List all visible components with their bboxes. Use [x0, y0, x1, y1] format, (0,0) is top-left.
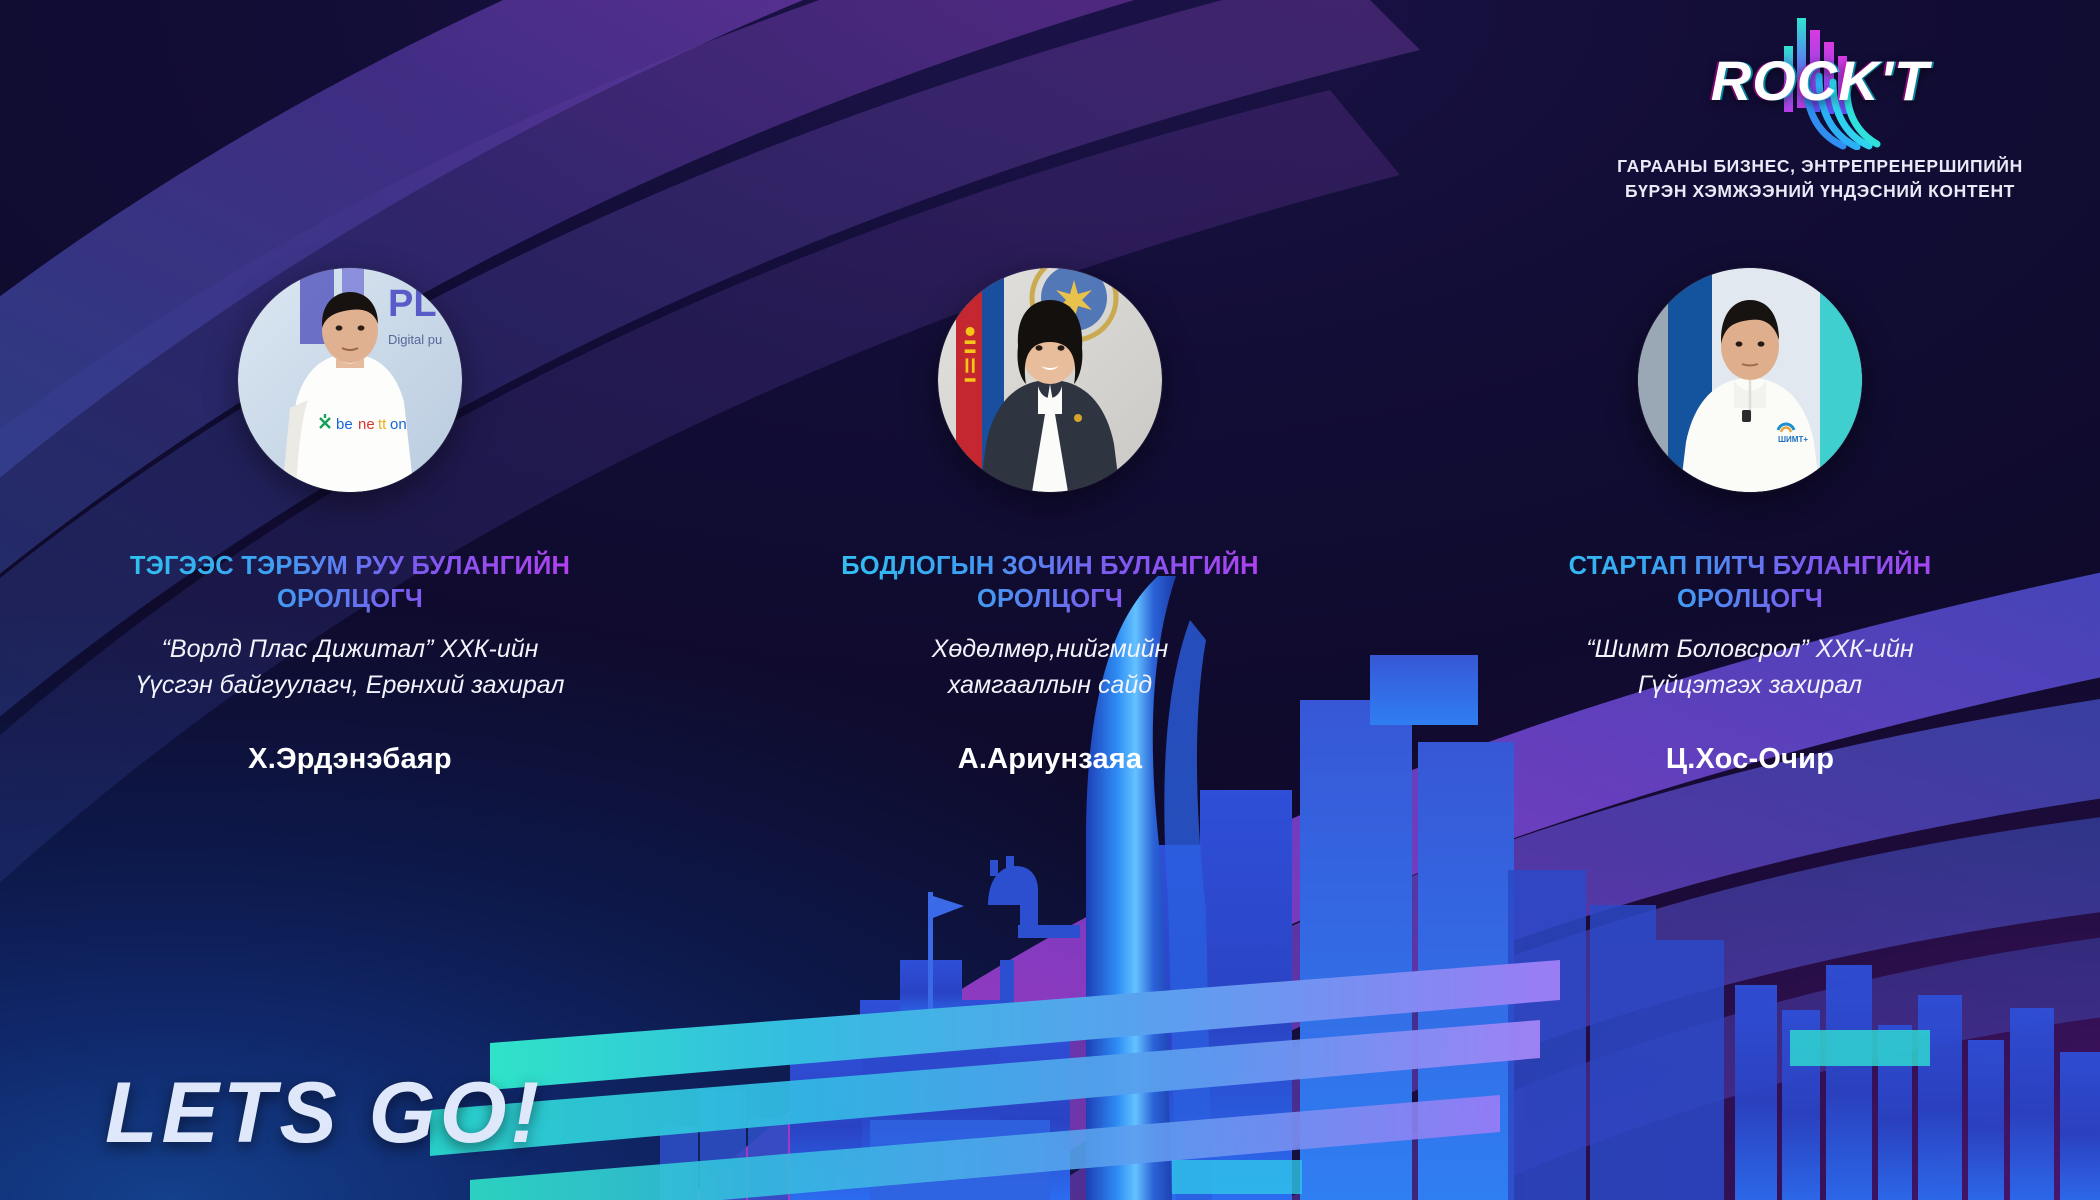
speaker-role-2: БОДЛОГЫН ЗОЧИН БУЛАНГИЙН ОРОЛЦОГЧ — [810, 550, 1290, 615]
svg-text:PL: PL — [388, 283, 437, 325]
org-line-1: “Шимт Боловсрол” ХХК-ийн — [1586, 635, 1913, 663]
speaker-card-3: ШИМТ+ СТАРТАП ПИТЧ БУЛАНГИЙН ОРОЛЦОГЧ “Ш… — [1400, 268, 2100, 776]
speaker-name-3: Ц.Хос-Очир — [1666, 743, 1834, 776]
org-line-2: Үүсгэн байгуулагч, Ерөнхий захирал — [135, 671, 564, 699]
role-line-1: БОДЛОГЫН ЗОЧИН БУЛАНГИЙН — [841, 552, 1259, 580]
svg-text:ШИМТ+: ШИМТ+ — [1778, 435, 1808, 444]
svg-text:ne: ne — [358, 416, 375, 433]
brand-logo-block: ROCK'T ГАРААНЫ БИЗНЕС, ЭНТРЕПРЕНЕРШИПИЙН… — [1605, 10, 2035, 205]
speaker-name-2: А.Ариунзаяа — [958, 743, 1143, 776]
org-line-1: “Ворлд Плас Дижитал” ХХК-ийн — [162, 635, 539, 663]
logo-wordmark: ROCK'T — [1605, 48, 2035, 113]
role-line-1: ТЭГЭЭС ТЭРБУМ РУУ БУЛАНГИЙН — [130, 552, 570, 580]
role-line-2: ОРОЛЦОГЧ — [977, 585, 1123, 613]
speaker-card-2: БОДЛОГЫН ЗОЧИН БУЛАНГИЙН ОРОЛЦОГЧ Хөдөлм… — [700, 268, 1400, 776]
svg-text:on: on — [390, 416, 407, 433]
logo-mark: ROCK'T — [1605, 10, 2035, 150]
svg-text:be: be — [336, 416, 353, 433]
speaker-org-1: “Ворлд Плас Дижитал” ХХК-ийн Үүсгэн байг… — [90, 632, 610, 703]
role-line-1: СТАРТАП ПИТЧ БУЛАНГИЙН — [1569, 552, 1932, 580]
tagline-line-1: ГАРААНЫ БИЗНЕС, ЭНТРЕПРЕНЕРШИПИЙН — [1605, 154, 2035, 179]
slide-canvas: ROCK'T ГАРААНЫ БИЗНЕС, ЭНТРЕПРЕНЕРШИПИЙН… — [0, 0, 2100, 1200]
tagline-line-2: БҮРЭН ХЭМЖЭЭНИЙ ҮНДЭСНИЙ КОНТЕНТ — [1605, 179, 2035, 204]
svg-text:Digital pu: Digital pu — [388, 332, 442, 347]
speaker-role-3: СТАРТАП ПИТЧ БУЛАНГИЙН ОРОЛЦОГЧ — [1510, 550, 1990, 615]
speaker-photo-erdenebayar: PL Digital pu be — [238, 268, 462, 492]
speaker-org-2: Хөдөлмөр,нийгмийн хамгааллын сайд — [790, 632, 1310, 703]
org-line-2: хамгааллын сайд — [948, 671, 1152, 699]
speaker-name-1: Х.Эрдэнэбаяр — [248, 743, 452, 776]
org-line-1: Хөдөлмөр,нийгмийн — [932, 635, 1169, 663]
svg-text:tt: tt — [378, 416, 387, 433]
speaker-row: PL Digital pu be — [0, 268, 2100, 776]
speaker-card-1: PL Digital pu be — [0, 268, 700, 776]
org-line-2: Гүйцэтгэх захирал — [1638, 671, 1862, 699]
brand-tagline: ГАРААНЫ БИЗНЕС, ЭНТРЕПРЕНЕРШИПИЙН БҮРЭН … — [1605, 154, 2035, 205]
role-line-2: ОРОЛЦОГЧ — [1677, 585, 1823, 613]
lets-go-text: LETS GO! — [105, 1064, 543, 1163]
speaker-photo-khos-ochir: ШИМТ+ — [1638, 268, 1862, 492]
speaker-role-1: ТЭГЭЭС ТЭРБУМ РУУ БУЛАНГИЙН ОРОЛЦОГЧ — [110, 550, 590, 615]
role-line-2: ОРОЛЦОГЧ — [277, 585, 423, 613]
speaker-org-3: “Шимт Боловсрол” ХХК-ийн Гүйцэтгэх захир… — [1490, 632, 2010, 703]
speaker-photo-ariunzaya — [938, 268, 1162, 492]
